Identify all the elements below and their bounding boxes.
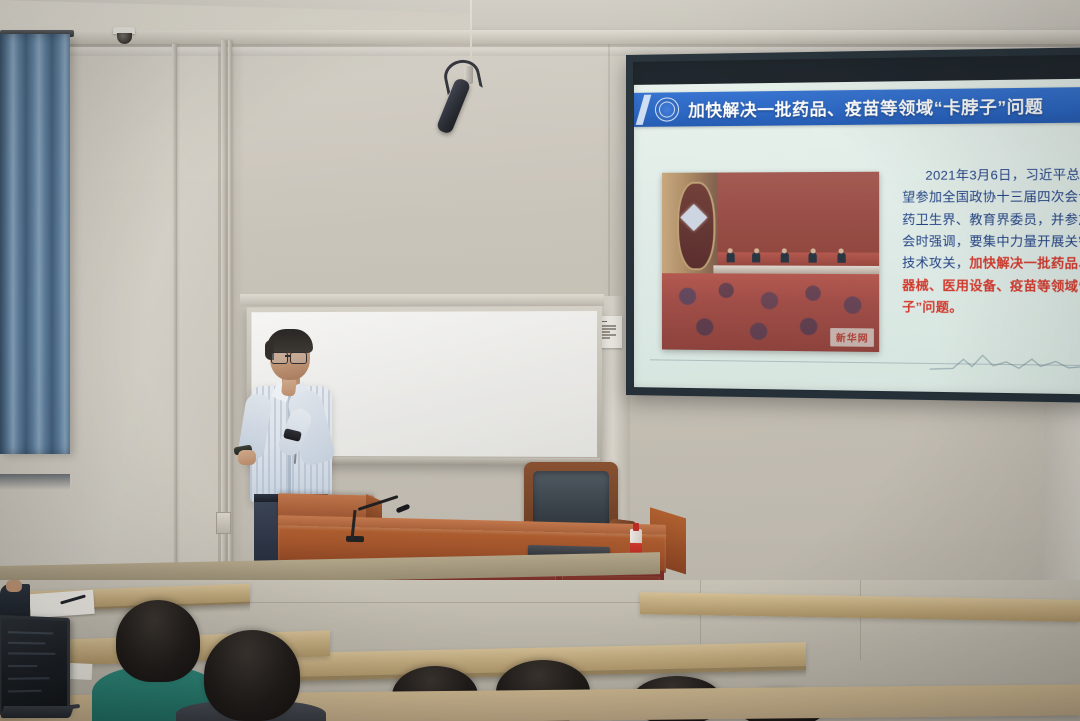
microphone-base: [346, 536, 364, 542]
student-head: [116, 600, 200, 682]
floor-tile-line: [860, 580, 861, 660]
whiteboard-top-edge: [240, 294, 604, 306]
conference-hall-photo: 新华网: [662, 172, 879, 352]
curtain-hem: [0, 474, 70, 490]
slide-body-line: 望参加全国政协十三届四次会议: [902, 187, 1080, 210]
slide-body-highlight-line: 器械、医用设备、疫苗等领域“卡: [902, 275, 1080, 298]
bottle-cap: [633, 523, 639, 531]
slide-body-line: 会时强调，要集中力量开展关键: [902, 231, 1080, 253]
eyeglasses-bridge: [285, 355, 291, 357]
slide-body-highlight-line: 子”问题。: [902, 297, 1080, 321]
slide-title-bar: 加快解决一批药品、疫苗等领域“卡脖子”问题: [634, 87, 1080, 127]
laptop-screen[interactable]: [0, 615, 70, 715]
slide-body-line: 2021年3月6日，习近平总书: [902, 164, 1080, 187]
slide-body-line: 药卫生界、教育界委员，并参加: [902, 209, 1080, 231]
laptop-keyboard-base[interactable]: [0, 706, 74, 718]
mountain-line-graphic: [930, 349, 1080, 378]
photo-official: [726, 252, 734, 262]
photo-official: [752, 253, 760, 263]
slide-body-line-mixed: 技术攻关，加快解决一批药品、: [902, 253, 1080, 276]
presenter-left-hand: [238, 450, 256, 465]
presentation-slide[interactable]: 加快解决一批药品、疫苗等领域“卡脖子”问题 新华网 2021年3: [634, 79, 1080, 395]
slide-body-text: 2021年3月6日，习近平总书 望参加全国政协十三届四次会议 药卫生界、教育界委…: [902, 164, 1080, 320]
projection-screen[interactable]: 加快解决一批药品、疫苗等领域“卡脖子”问题 新华网 2021年3: [626, 47, 1080, 403]
title-accent-bar: [636, 95, 652, 125]
ceiling-beam: [0, 30, 1080, 44]
photo-watermark: 新华网: [831, 328, 874, 347]
photo-official: [837, 253, 845, 263]
slide-body-plain: 技术攻关，: [902, 256, 969, 271]
student-hand: [6, 580, 22, 592]
student-head: [204, 630, 300, 721]
lecture-hall-scene: 加快解决一批药品、疫苗等领域“卡脖子”问题 新华网 2021年3: [0, 0, 1080, 721]
institution-emblem-icon: [655, 97, 679, 121]
window-curtain[interactable]: [0, 34, 70, 454]
chair-cushion: [533, 471, 609, 529]
wall-conduit: [172, 44, 177, 604]
photo-official: [809, 253, 817, 263]
student-with-laptop[interactable]: [0, 618, 68, 721]
slide-body-highlight: 加快解决一批药品、: [969, 256, 1080, 271]
photo-official: [780, 253, 788, 263]
slide-title: 加快解决一批药品、疫苗等领域“卡脖子”问题: [688, 93, 1043, 122]
eyeglasses-icon: [271, 352, 288, 364]
wall-outlet-box: [216, 512, 231, 534]
eyeglasses-icon: [290, 352, 307, 364]
